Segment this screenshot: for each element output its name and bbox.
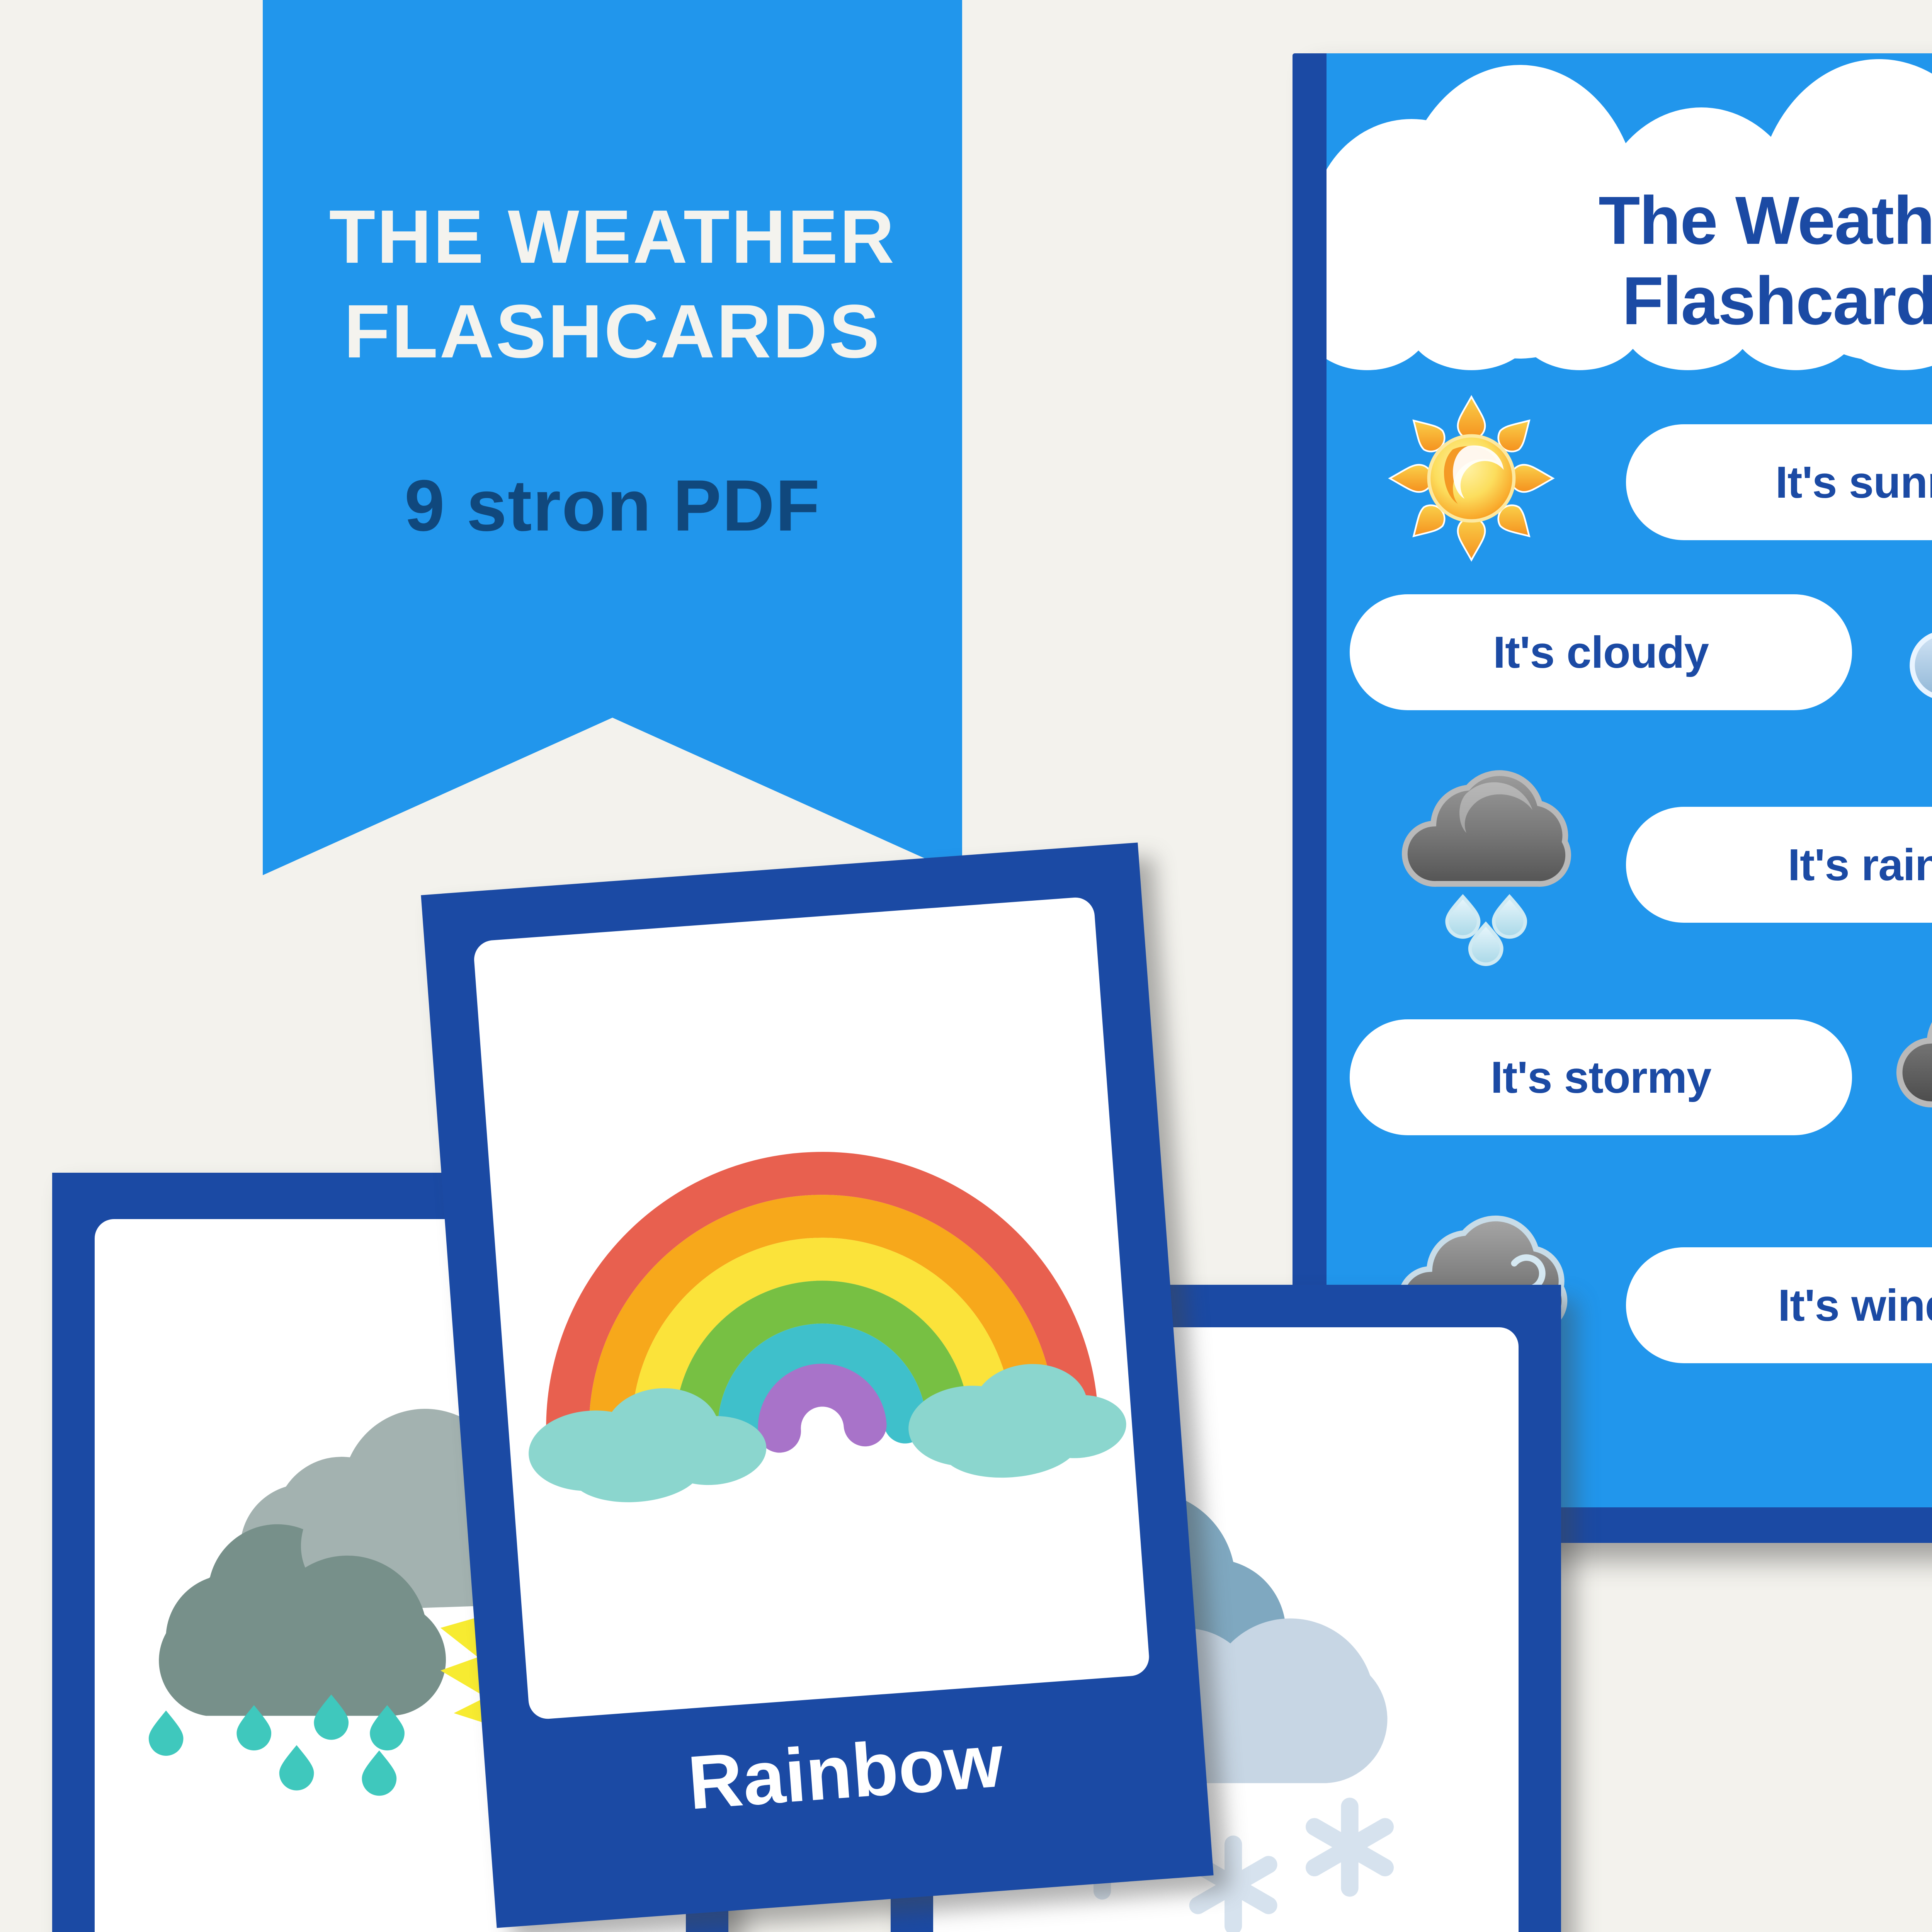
flashcard-caption: Rainbow [484,1702,1207,1841]
poster-pill-stormy[interactable]: It's stormy [1350,1019,1852,1135]
ribbon-title: THE WEATHER FLASHCARDS [263,189,962,379]
rain-cloud-icon [1394,760,1611,961]
flashcard-rainbow[interactable]: Rainbow [421,842,1213,1928]
poster-pill-label: It's stormy [1491,1051,1711,1103]
sun-icon [1386,393,1556,563]
ribbon-title-line2: FLASHCARDS [263,284,962,379]
poster-pill-label: It's windy [1778,1279,1932,1331]
ribbon-subtitle: 9 stron PDF [263,464,962,547]
ribbon-title-line1: THE WEATHER [263,189,962,284]
poster-mockup-canvas: THE WEATHER FLASHCARDS 9 stron PDF [0,0,1932,1932]
poster-pill-windy[interactable]: It's windy [1626,1247,1932,1363]
poster-pill-label: It's cloudy [1493,626,1709,678]
poster-title-line2: Flashcards [1327,261,1932,342]
storm-cloud-icon [1889,977,1932,1193]
poster-pill-label: It's rainy [1788,839,1932,891]
poster-pill-rainy[interactable]: It's rainy [1626,807,1932,923]
cloud-icon [1898,567,1932,718]
poster-title: The Weather Flashcards [1327,181,1932,341]
poster-pill-sunny[interactable]: It's sunny [1626,424,1932,540]
poster-pill-cloudy[interactable]: It's cloudy [1350,594,1852,710]
poster-title-line1: The Weather [1327,181,1932,261]
rainbow-illustration [497,1066,1126,1496]
poster-pill-label: It's sunny [1776,456,1932,508]
ribbon-banner: THE WEATHER FLASHCARDS 9 stron PDF [263,0,962,875]
flashcard-face [473,896,1151,1720]
